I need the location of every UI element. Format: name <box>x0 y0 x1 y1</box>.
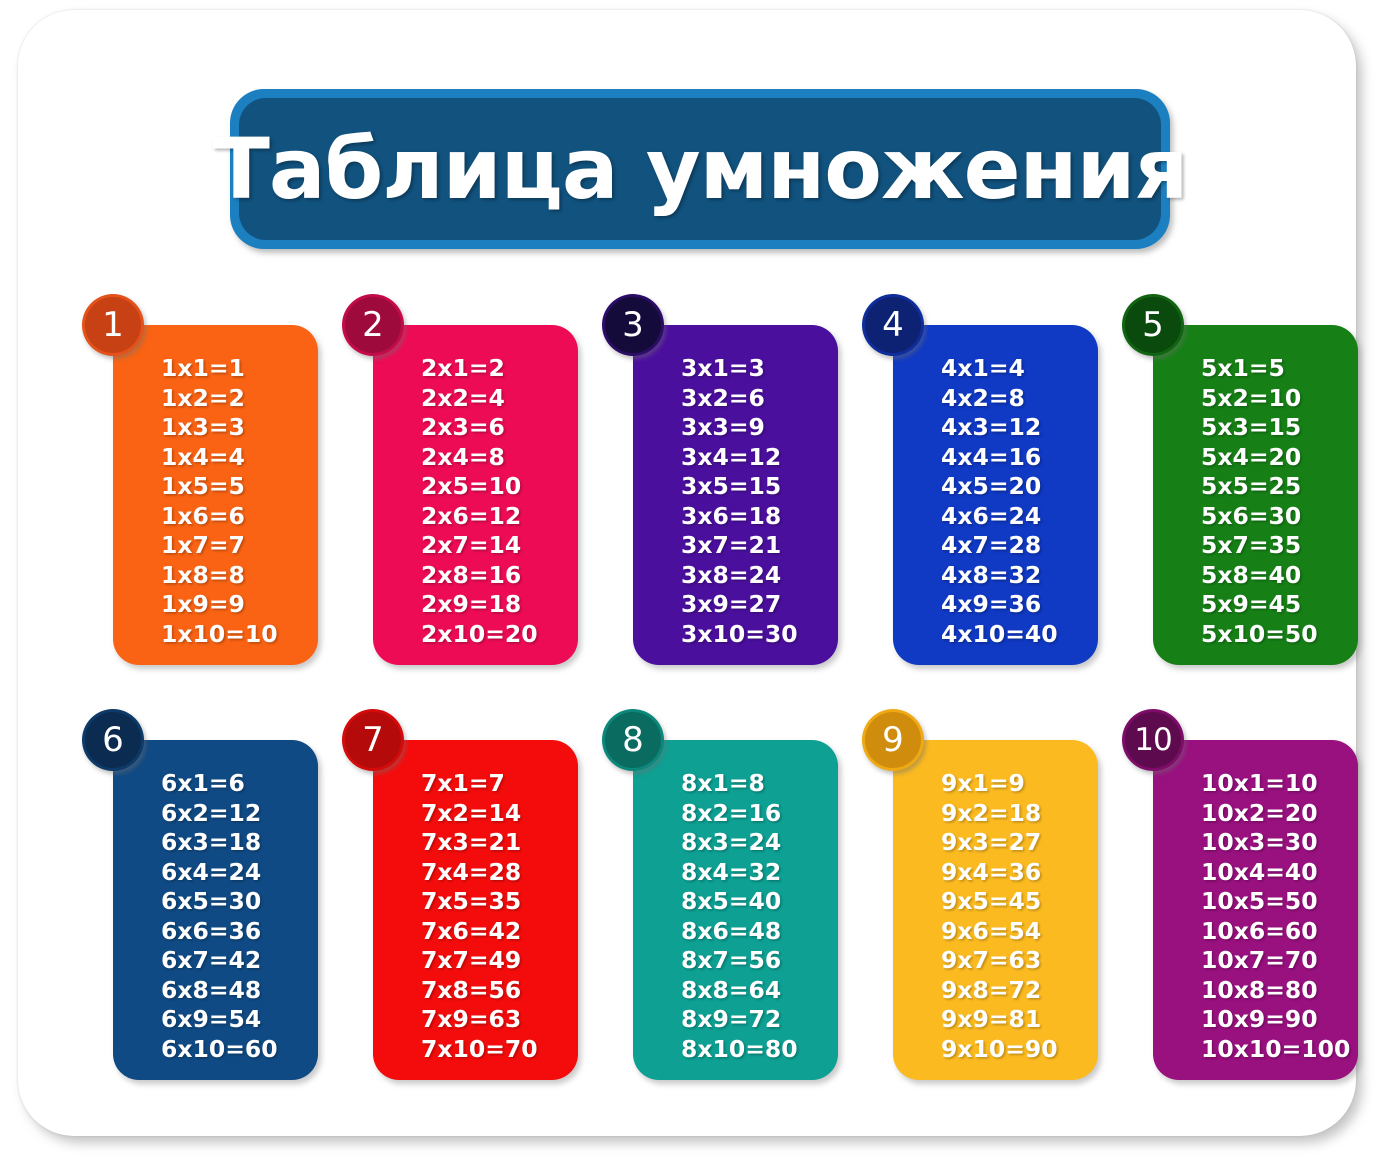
equation-line: 8x10=80 <box>681 1035 834 1065</box>
card-number-badge-10: 10 <box>1122 709 1184 771</box>
equation-line: 9x7=63 <box>941 946 1094 976</box>
badge-inner-circle: 4 <box>865 297 921 353</box>
card-number-badge-7: 7 <box>342 709 404 771</box>
equation-line: 6x3=18 <box>161 828 314 858</box>
equation-line: 4x9=36 <box>941 590 1094 620</box>
card-number-badge-5: 5 <box>1122 294 1184 356</box>
equation-line: 1x2=2 <box>161 384 314 414</box>
badge-number-label: 8 <box>622 723 644 757</box>
equation-line: 4x6=24 <box>941 502 1094 532</box>
badge-inner-circle: 6 <box>85 712 141 768</box>
badge-number-label: 2 <box>362 308 384 342</box>
equation-line: 10x6=60 <box>1201 917 1354 947</box>
equation-line: 3x5=15 <box>681 472 834 502</box>
equation-line: 9x4=36 <box>941 858 1094 888</box>
card-line-list: 4x1=44x2=84x3=124x4=164x5=204x6=244x7=28… <box>941 354 1094 649</box>
equation-line: 3x4=12 <box>681 443 834 473</box>
equation-line: 10x2=20 <box>1201 799 1354 829</box>
multiplication-card-5: 5x1=55x2=105x3=155x4=205x5=255x6=305x7=3… <box>1153 325 1358 665</box>
equation-line: 4x3=12 <box>941 413 1094 443</box>
equation-line: 10x5=50 <box>1201 887 1354 917</box>
card-number-badge-1: 1 <box>82 294 144 356</box>
equation-line: 5x9=45 <box>1201 590 1354 620</box>
equation-line: 6x6=36 <box>161 917 314 947</box>
card-line-list: 3x1=33x2=63x3=93x4=123x5=153x6=183x7=213… <box>681 354 834 649</box>
equation-line: 3x10=30 <box>681 620 834 650</box>
equation-line: 9x6=54 <box>941 917 1094 947</box>
equation-line: 6x5=30 <box>161 887 314 917</box>
badge-number-label: 1 <box>102 308 124 342</box>
multiplication-card-10: 10x1=1010x2=2010x3=3010x4=4010x5=5010x6=… <box>1153 740 1358 1080</box>
equation-line: 7x10=70 <box>421 1035 574 1065</box>
badge-number-label: 3 <box>622 308 644 342</box>
equation-line: 4x8=32 <box>941 561 1094 591</box>
multiplication-card-6: 6x1=66x2=126x3=186x4=246x5=306x6=366x7=4… <box>113 740 318 1080</box>
equation-line: 9x1=9 <box>941 769 1094 799</box>
equation-line: 2x1=2 <box>421 354 574 384</box>
equation-line: 4x2=8 <box>941 384 1094 414</box>
equation-line: 5x1=5 <box>1201 354 1354 384</box>
card-number-badge-2: 2 <box>342 294 404 356</box>
equation-line: 3x2=6 <box>681 384 834 414</box>
badge-inner-circle: 7 <box>345 712 401 768</box>
equation-line: 8x3=24 <box>681 828 834 858</box>
equation-line: 7x1=7 <box>421 769 574 799</box>
equation-line: 1x5=5 <box>161 472 314 502</box>
equation-line: 4x4=16 <box>941 443 1094 473</box>
equation-line: 3x6=18 <box>681 502 834 532</box>
card-number-badge-3: 3 <box>602 294 664 356</box>
card-line-list: 8x1=88x2=168x3=248x4=328x5=408x6=488x7=5… <box>681 769 834 1064</box>
card-number-badge-4: 4 <box>862 294 924 356</box>
equation-line: 7x9=63 <box>421 1005 574 1035</box>
badge-number-label: 5 <box>1142 308 1164 342</box>
equation-line: 6x8=48 <box>161 976 314 1006</box>
badge-inner-circle: 1 <box>85 297 141 353</box>
equation-line: 4x5=20 <box>941 472 1094 502</box>
badge-number-label: 4 <box>882 308 904 342</box>
badge-inner-circle: 2 <box>345 297 401 353</box>
equation-line: 1x10=10 <box>161 620 314 650</box>
equation-line: 2x8=16 <box>421 561 574 591</box>
equation-line: 10x9=90 <box>1201 1005 1354 1035</box>
equation-line: 8x5=40 <box>681 887 834 917</box>
badge-inner-circle: 5 <box>1125 297 1181 353</box>
equation-line: 10x8=80 <box>1201 976 1354 1006</box>
card-line-list: 2x1=22x2=42x3=62x4=82x5=102x6=122x7=142x… <box>421 354 574 649</box>
equation-line: 8x9=72 <box>681 1005 834 1035</box>
multiplication-card-8: 8x1=88x2=168x3=248x4=328x5=408x6=488x7=5… <box>633 740 838 1080</box>
equation-line: 5x4=20 <box>1201 443 1354 473</box>
equation-line: 4x10=40 <box>941 620 1094 650</box>
equation-line: 6x4=24 <box>161 858 314 888</box>
equation-line: 7x8=56 <box>421 976 574 1006</box>
equation-line: 3x8=24 <box>681 561 834 591</box>
badge-inner-circle: 3 <box>605 297 661 353</box>
card-line-list: 5x1=55x2=105x3=155x4=205x5=255x6=305x7=3… <box>1201 354 1354 649</box>
equation-line: 10x4=40 <box>1201 858 1354 888</box>
equation-line: 7x7=49 <box>421 946 574 976</box>
badge-inner-circle: 8 <box>605 712 661 768</box>
equation-line: 3x1=3 <box>681 354 834 384</box>
equation-line: 3x9=27 <box>681 590 834 620</box>
equation-line: 2x2=4 <box>421 384 574 414</box>
equation-line: 5x3=15 <box>1201 413 1354 443</box>
equation-line: 8x7=56 <box>681 946 834 976</box>
badge-inner-circle: 10 <box>1125 712 1181 768</box>
card-line-list: 7x1=77x2=147x3=217x4=287x5=357x6=427x7=4… <box>421 769 574 1064</box>
equation-line: 1x7=7 <box>161 531 314 561</box>
card-number-badge-8: 8 <box>602 709 664 771</box>
equation-line: 10x7=70 <box>1201 946 1354 976</box>
equation-line: 5x6=30 <box>1201 502 1354 532</box>
multiplication-card-4: 4x1=44x2=84x3=124x4=164x5=204x6=244x7=28… <box>893 325 1098 665</box>
equation-line: 4x1=4 <box>941 354 1094 384</box>
equation-line: 7x6=42 <box>421 917 574 947</box>
equation-line: 9x3=27 <box>941 828 1094 858</box>
card-line-list: 9x1=99x2=189x3=279x4=369x5=459x6=549x7=6… <box>941 769 1094 1064</box>
equation-line: 5x5=25 <box>1201 472 1354 502</box>
badge-number-label: 10 <box>1134 725 1171 756</box>
equation-line: 6x2=12 <box>161 799 314 829</box>
multiplication-card-3: 3x1=33x2=63x3=93x4=123x5=153x6=183x7=213… <box>633 325 838 665</box>
equation-line: 9x5=45 <box>941 887 1094 917</box>
equation-line: 9x2=18 <box>941 799 1094 829</box>
equation-line: 7x5=35 <box>421 887 574 917</box>
equation-line: 8x8=64 <box>681 976 834 1006</box>
equation-line: 10x10=100 <box>1201 1035 1354 1065</box>
equation-line: 7x4=28 <box>421 858 574 888</box>
equation-line: 9x8=72 <box>941 976 1094 1006</box>
equation-line: 1x4=4 <box>161 443 314 473</box>
equation-line: 6x7=42 <box>161 946 314 976</box>
equation-line: 3x3=9 <box>681 413 834 443</box>
equation-line: 2x3=6 <box>421 413 574 443</box>
equation-line: 1x8=8 <box>161 561 314 591</box>
equation-line: 2x9=18 <box>421 590 574 620</box>
card-line-list: 1x1=11x2=21x3=31x4=41x5=51x6=61x7=71x8=8… <box>161 354 314 649</box>
badge-number-label: 6 <box>102 723 124 757</box>
badge-number-label: 9 <box>882 723 904 757</box>
badge-inner-circle: 9 <box>865 712 921 768</box>
equation-line: 10x1=10 <box>1201 769 1354 799</box>
equation-line: 5x10=50 <box>1201 620 1354 650</box>
equation-line: 2x10=20 <box>421 620 574 650</box>
equation-line: 2x7=14 <box>421 531 574 561</box>
badge-number-label: 7 <box>362 723 384 757</box>
multiplication-card-9: 9x1=99x2=189x3=279x4=369x5=459x6=549x7=6… <box>893 740 1098 1080</box>
multiplication-card-2: 2x1=22x2=42x3=62x4=82x5=102x6=122x7=142x… <box>373 325 578 665</box>
equation-line: 7x3=21 <box>421 828 574 858</box>
equation-line: 5x2=10 <box>1201 384 1354 414</box>
equation-line: 8x1=8 <box>681 769 834 799</box>
equation-line: 9x9=81 <box>941 1005 1094 1035</box>
equation-line: 2x5=10 <box>421 472 574 502</box>
equation-line: 8x2=16 <box>681 799 834 829</box>
equation-line: 1x9=9 <box>161 590 314 620</box>
equation-line: 5x7=35 <box>1201 531 1354 561</box>
equation-line: 1x1=1 <box>161 354 314 384</box>
equation-line: 5x8=40 <box>1201 561 1354 591</box>
equation-line: 8x4=32 <box>681 858 834 888</box>
equation-line: 1x3=3 <box>161 413 314 443</box>
poster-canvas: Таблица умножения 1x1=11x2=21x3=31x4=41x… <box>18 10 1356 1136</box>
equation-line: 10x3=30 <box>1201 828 1354 858</box>
equation-line: 8x6=48 <box>681 917 834 947</box>
multiplication-cards-grid: 1x1=11x2=21x3=31x4=41x5=51x6=61x7=71x8=8… <box>18 10 1378 1167</box>
card-number-badge-6: 6 <box>82 709 144 771</box>
equation-line: 6x1=6 <box>161 769 314 799</box>
equation-line: 2x6=12 <box>421 502 574 532</box>
multiplication-card-7: 7x1=77x2=147x3=217x4=287x5=357x6=427x7=4… <box>373 740 578 1080</box>
equation-line: 1x6=6 <box>161 502 314 532</box>
card-number-badge-9: 9 <box>862 709 924 771</box>
card-line-list: 6x1=66x2=126x3=186x4=246x5=306x6=366x7=4… <box>161 769 314 1064</box>
equation-line: 9x10=90 <box>941 1035 1094 1065</box>
equation-line: 6x9=54 <box>161 1005 314 1035</box>
equation-line: 2x4=8 <box>421 443 574 473</box>
card-line-list: 10x1=1010x2=2010x3=3010x4=4010x5=5010x6=… <box>1201 769 1354 1064</box>
equation-line: 6x10=60 <box>161 1035 314 1065</box>
equation-line: 3x7=21 <box>681 531 834 561</box>
equation-line: 7x2=14 <box>421 799 574 829</box>
multiplication-card-1: 1x1=11x2=21x3=31x4=41x5=51x6=61x7=71x8=8… <box>113 325 318 665</box>
equation-line: 4x7=28 <box>941 531 1094 561</box>
